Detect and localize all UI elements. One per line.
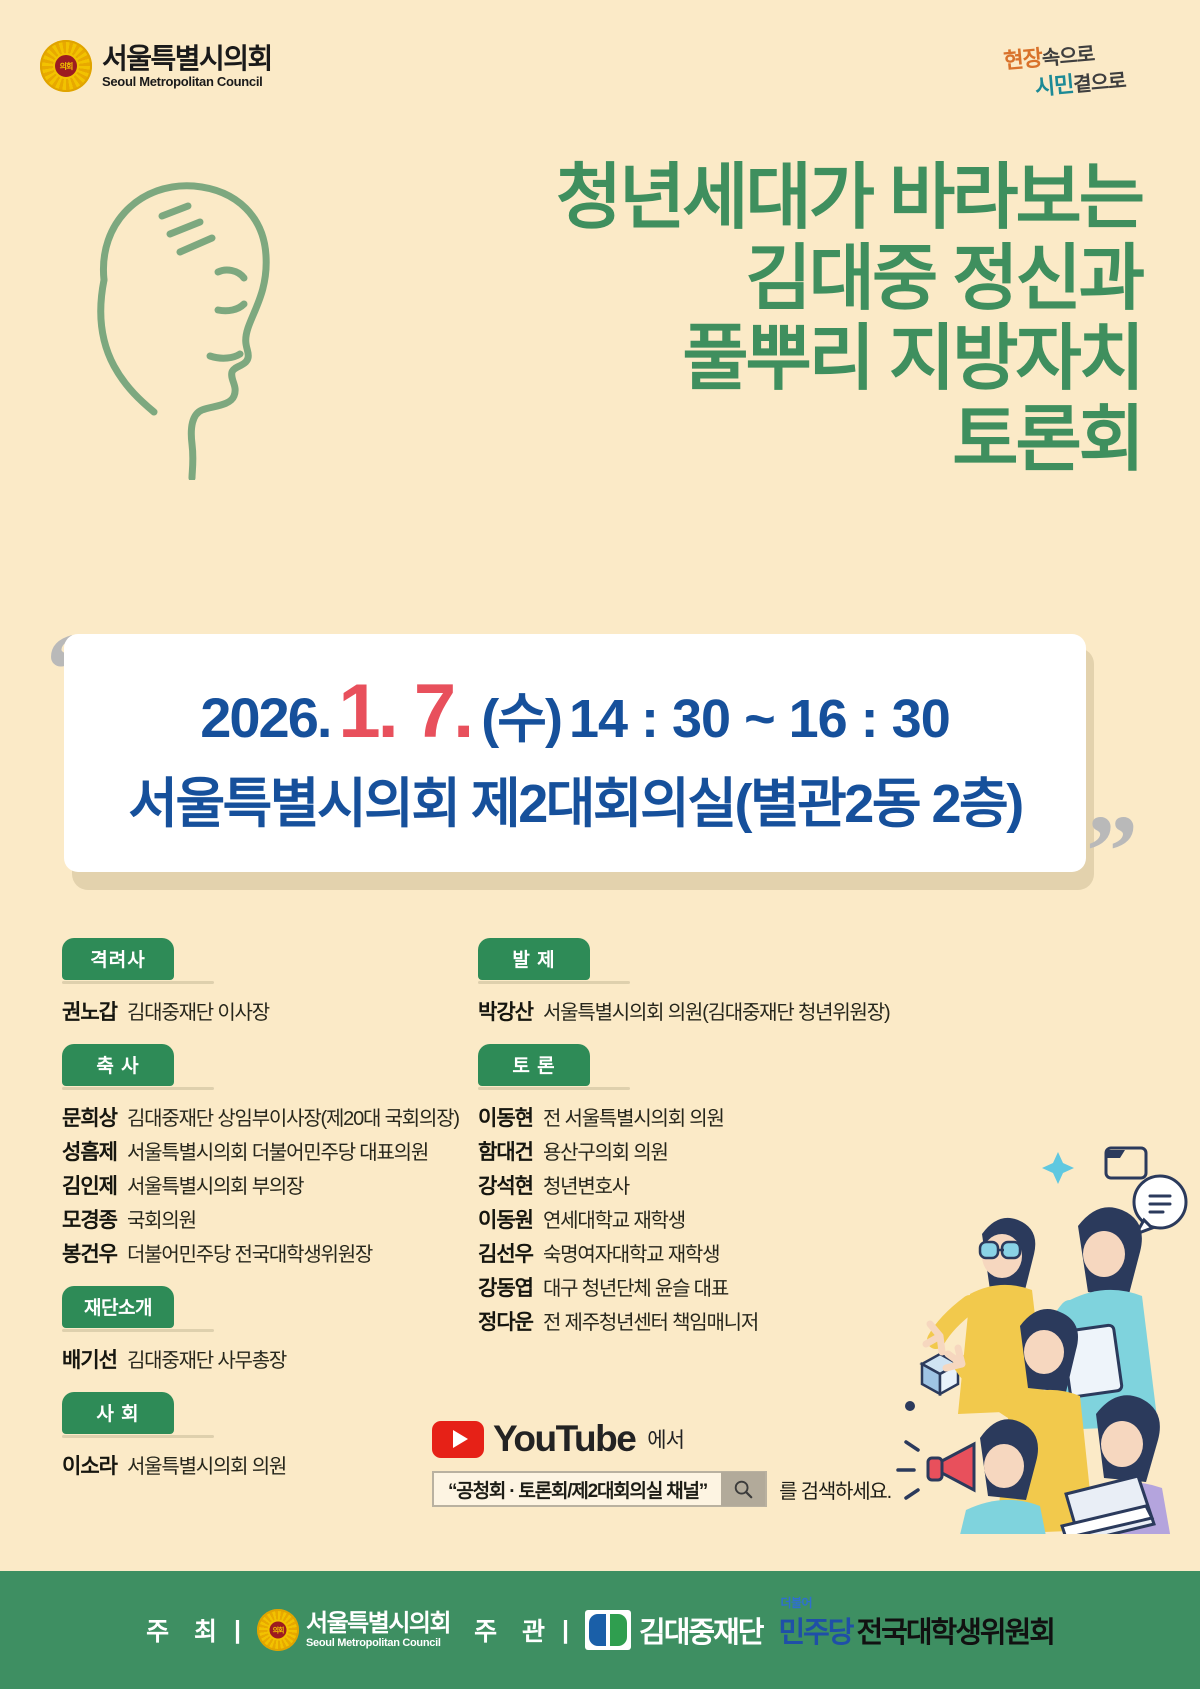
person-title: 서울특별시의회 더불어민주당 대표의원 <box>127 1136 428 1165</box>
kim-dae-jung-silhouette-icon <box>42 160 302 480</box>
person-title: 서울특별시의회 부의장 <box>127 1170 303 1199</box>
section-tag-encouragement: 격려사 <box>62 938 174 980</box>
kdj-foundation-name: 김대중재단 <box>639 1609 762 1651</box>
person-title: 더불어민주당 전국대학생위원장 <box>127 1238 372 1267</box>
section-presentation: 발 제 박강산 서울특별시의회 의원(김대중재단 청년위원장) <box>478 938 948 1026</box>
list-item: 봉건우 더불어민주당 전국대학생위원장 <box>62 1238 482 1268</box>
section-tag-moderator: 사 회 <box>62 1392 174 1434</box>
footer-emblem-icon: 의회 <box>257 1609 299 1651</box>
section-moderator: 사 회 이소라 서울특별시의회 의원 <box>62 1392 482 1480</box>
sparkle-icon <box>1042 1152 1074 1184</box>
section-encouragement: 격려사 권노갑 김대중재단 이사장 <box>62 938 482 1026</box>
kdj-foundation-icon <box>585 1610 631 1650</box>
council-name-en: Seoul Metropolitan Council <box>102 75 272 88</box>
person-name: 정다운 <box>478 1306 533 1336</box>
event-day-of-week: (수) <box>481 674 561 753</box>
youtube-suffix: 에서 <box>647 1424 684 1454</box>
emblem-core-label: 의회 <box>53 53 79 79</box>
person-name: 강동엽 <box>478 1272 533 1302</box>
list-item: 모경종 국회의원 <box>62 1204 482 1234</box>
person-name: 문희상 <box>62 1102 117 1132</box>
person-title: 청년변호사 <box>543 1170 629 1199</box>
person-name: 함대건 <box>478 1136 533 1166</box>
kdj-mark-right <box>610 1614 627 1646</box>
footer-bar: 주 최 | 의회 서울특별시의회 Seoul Metropolitan Coun… <box>0 1571 1200 1689</box>
title-line-3: 풀뿌리 지방자치 <box>352 319 1142 400</box>
person-title: 김대중재단 이사장 <box>127 996 269 1025</box>
youtube-brand-row: YouTube 에서 <box>432 1418 891 1460</box>
person-name: 이동원 <box>478 1204 533 1234</box>
section-underline <box>62 1087 214 1090</box>
event-venue: 서울특별시의회 제2대회의실(별관2동 2층) <box>128 759 1021 838</box>
person-title: 전 서울특별시의회 의원 <box>543 1102 724 1131</box>
person-title: 서울특별시의회 의원(김대중재단 청년위원장) <box>543 996 889 1025</box>
title-line-2: 김대중 정신과 <box>352 239 1142 320</box>
person-title: 숙명여자대학교 재학생 <box>543 1238 719 1267</box>
search-icon <box>732 1478 754 1500</box>
section-body-congratulation: 문희상 김대중재단 상임부이사장(제20대 국회의장) 성흠제 서울특별시의회 … <box>62 1102 482 1268</box>
list-item: 성흠제 서울특별시의회 더불어민주당 대표의원 <box>62 1136 482 1166</box>
megaphone-icon <box>898 1442 974 1498</box>
list-item: 박강산 서울특별시의회 의원(김대중재단 청년위원장) <box>478 996 948 1026</box>
person-name: 이소라 <box>62 1450 117 1480</box>
footer-democratic-party-logo: 더불어 민주당 전국대학생위원회 <box>778 1609 1054 1651</box>
section-tag-foundation-intro: 재단소개 <box>62 1286 174 1328</box>
section-underline <box>62 1329 214 1332</box>
list-item: 이소라 서울특별시의회 의원 <box>62 1450 482 1480</box>
youtube-play-icon <box>432 1421 484 1458</box>
host-label: 주 최 <box>146 1612 226 1648</box>
event-month-day: 1. 7. <box>338 668 471 755</box>
party-name: 민주당 <box>778 1609 852 1651</box>
search-instruction-text: 를 검색하세요. <box>779 1475 891 1504</box>
emblem-core-label: 의회 <box>268 1620 289 1641</box>
list-item: 권노갑 김대중재단 이사장 <box>62 996 482 1026</box>
footer-kdj-foundation-logo: 김대중재단 <box>585 1609 762 1651</box>
slogan-word-gyeoteuro: 곁으로 <box>1072 70 1126 96</box>
title-line-1: 청년세대가 바라보는 <box>352 158 1142 239</box>
title-line-4: 토론회 <box>352 400 1142 481</box>
section-tag-discussion: 토 론 <box>478 1044 590 1086</box>
person-title: 서울특별시의회 의원 <box>127 1450 286 1479</box>
event-time: 14 : 30 ~ 16 : 30 <box>569 688 950 750</box>
footer-divider-2: | <box>562 1616 569 1645</box>
poster-title: 청년세대가 바라보는 김대중 정신과 풀뿌리 지방자치 토론회 <box>352 158 1142 481</box>
footer-council-name-ko: 서울특별시의회 <box>306 1611 450 1636</box>
campaign-slogan: 현장속으로 시민곁으로 <box>996 32 1159 106</box>
kdj-mark-left <box>589 1614 606 1646</box>
footer-council-text: 서울특별시의회 Seoul Metropolitan Council <box>306 1611 450 1648</box>
council-logo-text: 서울특별시의회 Seoul Metropolitan Council <box>102 45 272 88</box>
person-title: 용산구의회 의원 <box>543 1136 668 1165</box>
section-body-foundation-intro: 배기선 김대중재단 사무총장 <box>62 1344 482 1374</box>
council-emblem-icon: 의회 <box>40 40 92 92</box>
person-title: 전 제주청년센터 책임매니저 <box>543 1306 758 1335</box>
chat-bubble-icon <box>1134 1176 1186 1234</box>
list-item: 문희상 김대중재단 상임부이사장(제20대 국회의장) <box>62 1102 482 1132</box>
person-title: 국회의원 <box>127 1204 196 1233</box>
event-year: 2026. <box>200 685 330 750</box>
footer-divider-1: | <box>234 1616 241 1645</box>
list-item: 배기선 김대중재단 사무총장 <box>62 1344 482 1374</box>
person-name: 배기선 <box>62 1344 117 1374</box>
section-tag-congratulation: 축 사 <box>62 1044 174 1086</box>
organizer-label: 주 관 <box>474 1612 554 1648</box>
person-title: 대구 청년단체 윤슬 대표 <box>543 1272 728 1301</box>
section-underline <box>62 1435 214 1438</box>
person-name: 강석현 <box>478 1170 533 1200</box>
quote-close-mark: ” <box>1086 800 1138 904</box>
section-body-presentation: 박강산 서울특별시의회 의원(김대중재단 청년위원장) <box>478 996 948 1026</box>
section-underline <box>62 981 214 984</box>
person-name: 김선우 <box>478 1238 533 1268</box>
person-name: 모경종 <box>62 1204 117 1234</box>
seoul-council-logo: 의회 서울특별시의회 Seoul Metropolitan Council <box>40 40 272 92</box>
person-name: 봉건우 <box>62 1238 117 1268</box>
person-name: 성흠제 <box>62 1136 117 1166</box>
party-prefix: 더불어 <box>780 1594 812 1611</box>
person-name: 김인제 <box>62 1170 117 1200</box>
youtube-search-row: “공청회 · 토론회/제2대회의실 채널” 를 검색하세요. <box>432 1471 891 1507</box>
list-item: 김인제 서울특별시의회 부의장 <box>62 1170 482 1200</box>
footer-seoul-council-logo: 의회 서울특별시의회 Seoul Metropolitan Council <box>257 1609 450 1651</box>
section-underline <box>478 1087 630 1090</box>
young-people-illustration <box>870 1114 1200 1534</box>
section-underline <box>478 981 630 984</box>
section-body-encouragement: 권노갑 김대중재단 이사장 <box>62 996 482 1026</box>
date-venue-card: 2026. 1. 7. (수) 14 : 30 ~ 16 : 30 서울특별시의… <box>64 634 1086 872</box>
person-title: 연세대학교 재학생 <box>543 1204 685 1233</box>
search-query-text: “공청회 · 토론회/제2대회의실 채널” <box>434 1476 721 1503</box>
person-name: 이동현 <box>478 1102 533 1132</box>
youtube-watch-info: YouTube 에서 “공청회 · 토론회/제2대회의실 채널” 를 검색하세요… <box>432 1418 891 1507</box>
event-datetime-line: 2026. 1. 7. (수) 14 : 30 ~ 16 : 30 <box>200 668 949 755</box>
person-title: 김대중재단 사무총장 <box>127 1344 286 1373</box>
section-foundation-intro: 재단소개 배기선 김대중재단 사무총장 <box>62 1286 482 1374</box>
search-button[interactable] <box>721 1472 765 1506</box>
slogan-word-simin: 시민 <box>1034 72 1075 100</box>
youtube-wordmark: YouTube <box>493 1418 635 1460</box>
play-triangle <box>453 1430 468 1448</box>
section-congratulation: 축 사 문희상 김대중재단 상임부이사장(제20대 국회의장) 성흠제 서울특별… <box>62 1044 482 1268</box>
footer-council-name-en: Seoul Metropolitan Council <box>306 1637 450 1649</box>
person-with-megaphone <box>898 1419 1052 1534</box>
person-name: 박강산 <box>478 996 533 1026</box>
party-committee-name: 전국대학생위원회 <box>856 1609 1053 1651</box>
program-column-left: 격려사 권노갑 김대중재단 이사장 축 사 문희상 김대중재단 상임부이사장(제… <box>62 938 482 1498</box>
person-title: 김대중재단 상임부이사장(제20대 국회의장) <box>127 1102 459 1131</box>
search-input[interactable]: “공청회 · 토론회/제2대회의실 채널” <box>432 1471 767 1507</box>
council-name-ko: 서울특별시의회 <box>102 45 272 73</box>
section-tag-presentation: 발 제 <box>478 938 590 980</box>
poster-root: 의회 서울특별시의회 Seoul Metropolitan Council 현장… <box>0 0 1200 1689</box>
section-body-moderator: 이소라 서울특별시의회 의원 <box>62 1450 482 1480</box>
slogan-line-2: 시민곁으로 <box>1033 62 1126 102</box>
person-name: 권노갑 <box>62 996 117 1026</box>
